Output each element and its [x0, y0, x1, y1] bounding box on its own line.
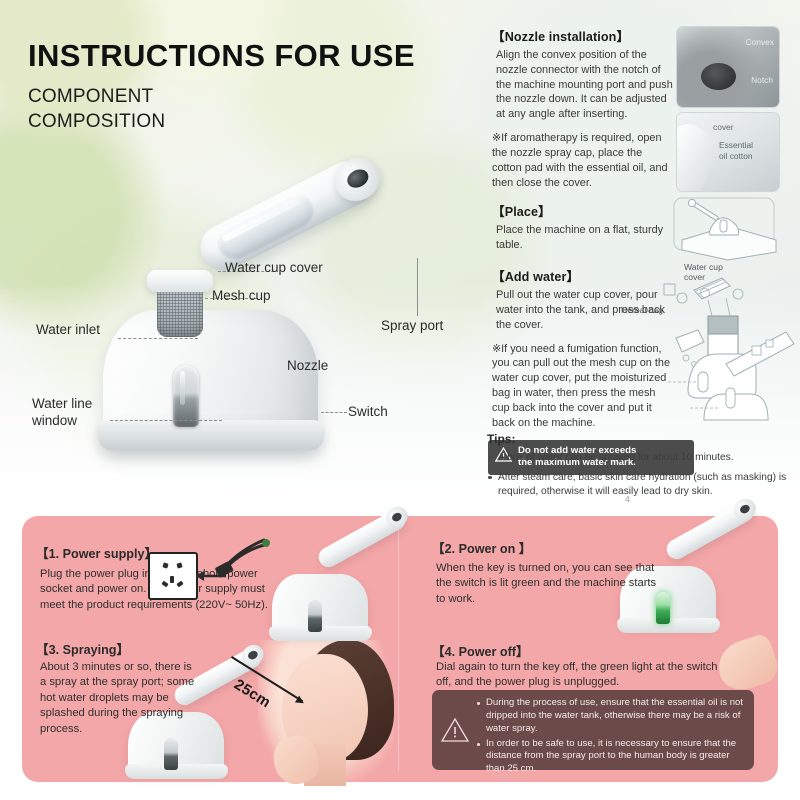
label-water-line-window: Water line window — [32, 396, 92, 430]
step-3-body: About 3 minutes or so, there is a spray … — [40, 660, 200, 737]
nozzle-body: Align the convex position of the nozzle … — [496, 48, 674, 122]
tips-heading: Tips: — [487, 432, 787, 446]
power-plug-icon — [190, 538, 272, 590]
step-2-heading: 【2. Power on 】 — [432, 538, 531, 557]
product-illustration — [95, 215, 470, 480]
page-title-block: INSTRUCTIONS FOR USE COMPONENT COMPOSITI… — [28, 40, 415, 134]
water-line-window-part — [173, 365, 199, 427]
label-spray-port: Spray port — [381, 318, 443, 335]
step-1-heading: 【1. Power supply】 — [36, 543, 157, 562]
thumbnail-nozzle-install: Convex Notch — [676, 26, 780, 108]
leader-water-inlet — [118, 338, 198, 339]
label-herbal-bag: Herbal bag — [621, 305, 663, 315]
page-subtitle-line2: COMPOSITION — [28, 109, 415, 134]
lineart-max-water-mark — [690, 378, 786, 424]
thumbnail-essential-oil: cover Essential oil cotton — [676, 112, 780, 192]
instruction-page: INSTRUCTIONS FOR USE COMPONENT COMPOSITI… — [0, 0, 800, 800]
mini-switch-1 — [308, 600, 322, 632]
page-subtitle-line1: COMPONENT — [28, 84, 415, 109]
socket-hole-1 — [162, 562, 168, 568]
label-water-cup-cover: Water cup cover — [225, 260, 323, 277]
label-mesh-cup: Mesh cup — [212, 288, 271, 305]
label-water-cup-cover-art-l1: Water cup — [684, 262, 723, 272]
tip-item-1: A box of water can be sprayed for about … — [487, 451, 787, 465]
label-essential-oil-cotton-l1: Essential — [719, 140, 753, 150]
spacer-2 — [492, 255, 674, 266]
step-4-heading: 【4. Power off】 — [432, 641, 529, 660]
instructions-column: 【Nozzle installation】 Align the convex p… — [492, 26, 674, 475]
caution-box: During the process of use, ensure that t… — [432, 690, 754, 770]
model-face-illustration — [258, 640, 394, 782]
caution-item-1: During the process of use, ensure that t… — [477, 697, 745, 736]
label-convex: Convex — [746, 37, 774, 47]
spacer-1 — [492, 190, 674, 201]
label-water-inlet: Water inlet — [36, 322, 100, 339]
section-nozzle-installation: 【Nozzle installation】 Align the convex p… — [492, 26, 674, 190]
nozzle-heading: 【Nozzle installation】 — [492, 26, 674, 45]
label-cover: cover — [713, 122, 733, 132]
section-place: 【Place】 Place the machine on a flat, stu… — [492, 201, 674, 253]
machine-base-foot — [97, 420, 325, 450]
page-title: INSTRUCTIONS FOR USE — [28, 40, 415, 71]
steps-panel-divider — [398, 528, 399, 770]
step-2-body: When the key is turned on, you can see t… — [436, 561, 660, 607]
label-water-line-window-line1: Water line — [32, 396, 92, 413]
step-4-body: Dial again to turn the key off, the gree… — [436, 660, 742, 691]
add-water-heading: 【Add water】 — [492, 266, 674, 285]
label-nozzle: Nozzle — [287, 358, 328, 375]
page-subtitle: COMPONENT COMPOSITION — [28, 84, 415, 134]
tips-block: Tips: A box of water can be sprayed for … — [487, 432, 787, 504]
tip-item-2: After steam care, basic skin care hydrat… — [487, 471, 787, 499]
label-notch: Notch — [751, 75, 773, 85]
caution-triangle-icon — [440, 697, 470, 763]
place-body: Place the machine on a flat, sturdy tabl… — [496, 223, 674, 253]
spray-port-part — [344, 166, 371, 191]
label-water-cup-cover-art-l2: cover — [684, 272, 705, 282]
place-heading: 【Place】 — [492, 201, 674, 220]
mini-switch-3 — [164, 738, 178, 770]
section-add-water: 【Add water】 Pull out the water cup cover… — [492, 266, 674, 430]
water-cup-cover-part — [147, 270, 213, 292]
mesh-cup-part — [157, 289, 203, 337]
leader-water-line-window — [110, 420, 222, 421]
socket-hole-5 — [176, 581, 183, 588]
caution-list: During the process of use, ensure that t… — [477, 697, 745, 763]
label-essential-oil-cotton-l2: oil cotton — [719, 151, 753, 161]
label-switch: Switch — [348, 404, 388, 421]
add-water-note: ※If you need a fumigation function, you … — [492, 342, 674, 431]
socket-hole-4 — [161, 581, 168, 588]
nozzle-note: ※If aromatherapy is required, open the n… — [492, 131, 674, 190]
lineart-place-on-table — [672, 196, 782, 262]
socket-hole-3 — [170, 576, 174, 583]
step-3-heading: 【3. Spraying】 — [36, 639, 129, 658]
page-number: 4 — [625, 494, 630, 504]
label-water-line-window-line2: window — [32, 413, 92, 430]
leader-switch — [321, 412, 347, 413]
caution-item-2: In order to be safe to use, it is necess… — [477, 738, 745, 777]
socket-hole-2 — [176, 562, 182, 568]
leader-spray-port — [417, 258, 418, 316]
